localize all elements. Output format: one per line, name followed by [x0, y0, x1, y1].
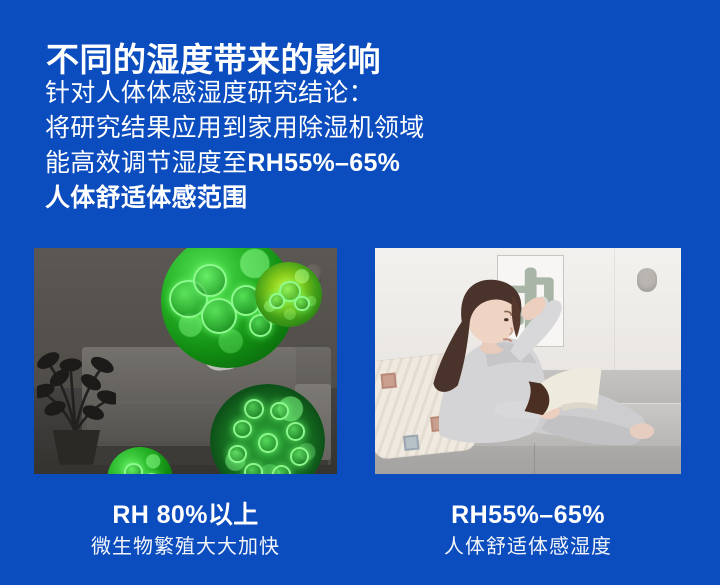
body-line-3-highlight: RH55%–65%: [247, 149, 400, 177]
caption-left: RH 80%以上 微生物繁殖大大加快: [34, 498, 337, 562]
caption-right-subtitle: 人体舒适体感湿度: [375, 532, 681, 562]
body-copy: 针对人体体感湿度研究结论： 将研究结果应用到家用除湿机领域 能高效调节湿度至RH…: [45, 76, 485, 216]
humidity-impact-poster: 不同的湿度带来的影响 针对人体体感湿度研究结论： 将研究结果应用到家用除湿机领域…: [0, 0, 720, 585]
caption-right-title: RH55%–65%: [375, 498, 681, 532]
dark-room-scene: [34, 248, 337, 474]
photo-left-high-humidity: [34, 248, 337, 474]
woman-reading-book: [399, 266, 662, 465]
microbe-sphere-small: [107, 447, 174, 474]
body-line-3-normal: 能高效调节湿度至: [45, 149, 247, 177]
body-line-1: 针对人体体感湿度研究结论：: [45, 76, 485, 111]
body-line-3: 能高效调节湿度至RH55%–65%: [45, 146, 485, 181]
caption-right: RH55%–65% 人体舒适体感湿度: [375, 498, 681, 562]
microbe-sphere-yellow: [255, 262, 322, 328]
caption-left-subtitle: 微生物繁殖大大加快: [34, 532, 337, 562]
caption-left-title: RH 80%以上: [34, 498, 337, 532]
bright-room-scene: [375, 248, 681, 474]
photo-right-comfort-humidity: [375, 248, 681, 474]
photo-left-stage: [34, 248, 337, 474]
microbe-buds: [255, 262, 322, 328]
potted-plant-icon: [37, 302, 116, 465]
photo-right-stage: [375, 248, 681, 474]
photo-row: [0, 248, 720, 474]
microbe-buds: [107, 447, 174, 474]
microbe-sphere-dark: [210, 384, 325, 474]
body-line-2: 将研究结果应用到家用除湿机领域: [45, 111, 485, 146]
body-line-4: 人体舒适体感范围: [45, 181, 485, 216]
microbe-buds: [210, 384, 325, 474]
